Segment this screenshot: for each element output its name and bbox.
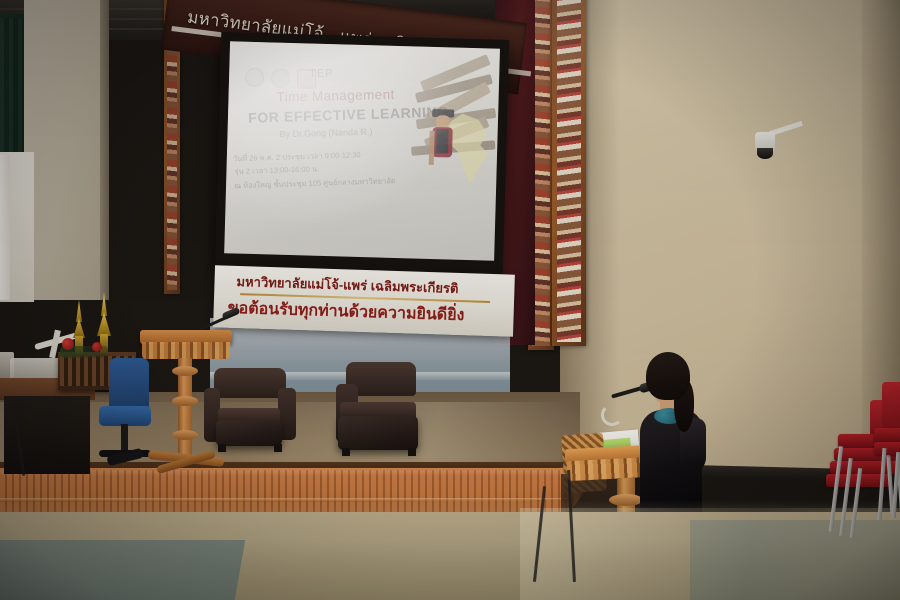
lectern-knob-1 [172, 366, 198, 376]
textile-frame-2 [552, 0, 586, 346]
white-wall-panel-highlight [0, 155, 10, 300]
leather-armchair-right [312, 362, 422, 458]
carved-wooden-lectern [140, 330, 232, 480]
dome-security-camera [755, 126, 777, 160]
projection-screen-surface: TEP Time Management FOR EFFECTIVE LEARNI… [224, 41, 500, 260]
lectern-carved-apron [142, 342, 230, 359]
stacked-red-chairs-secondary [874, 392, 900, 512]
presenter-hair [646, 352, 690, 400]
office-chair-post [121, 424, 128, 452]
lectern-knob-2 [172, 396, 198, 406]
camera-lens-dome [757, 148, 773, 159]
welcome-banner: มหาวิทยาลัยแม่โจ้-แพร่ เฉลิมพระเกียรติ ข… [213, 265, 515, 336]
red-rose-2 [92, 342, 102, 352]
lectern-knob-3 [172, 430, 198, 440]
floor-tile-accent-left [0, 540, 245, 600]
screen-glare [224, 41, 500, 260]
seminar-hall-photo: มหาวิทยาลัยแม่โจ้ - แพร่ เฉลิมพระ TEP Ti… [0, 0, 900, 600]
projection-screen: TEP Time Management FOR EFFECTIVE LEARNI… [215, 32, 509, 276]
red-rose-1 [62, 338, 74, 350]
lectern-microphone-icon [198, 308, 242, 332]
wall-pillar [24, 0, 104, 300]
pillar-edge [100, 0, 109, 300]
